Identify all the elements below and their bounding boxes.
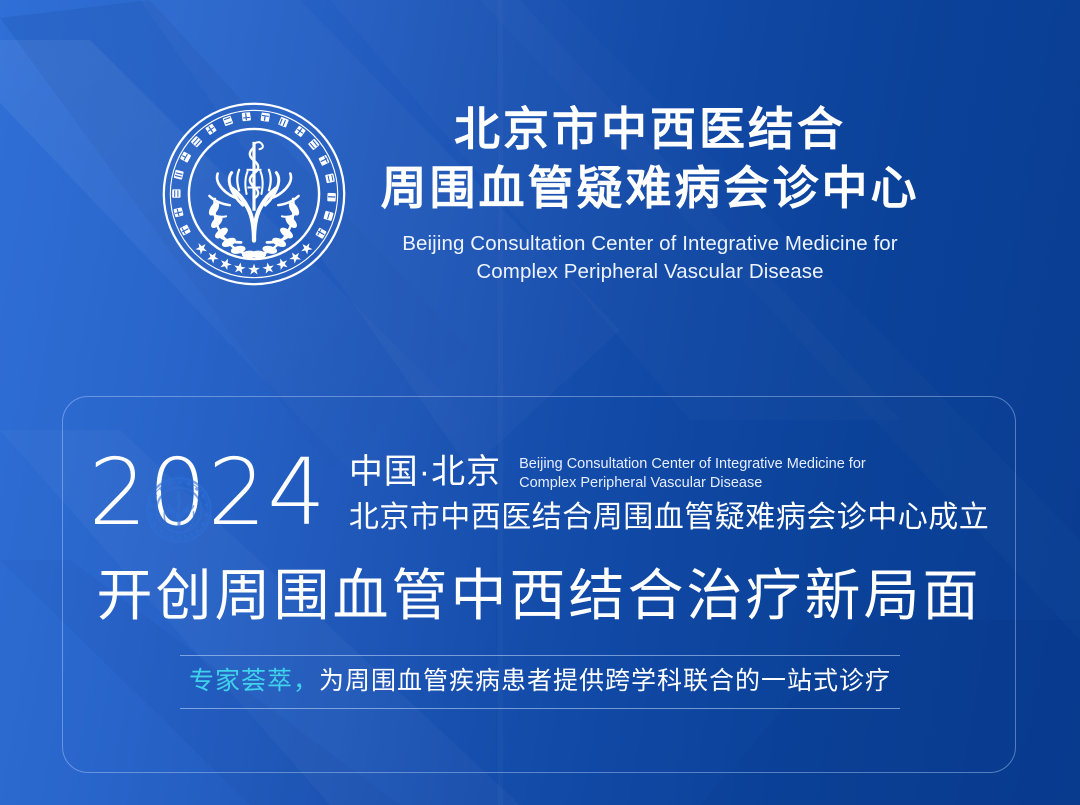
establishment-line: 北京市中西医结合周围血管疑难病会诊中心成立 (349, 503, 990, 533)
header-text-block: 北京市中西医结合 周围血管疑难病会诊中心 Beijing Consultatio… (381, 100, 920, 285)
year-text: 2024 (89, 439, 327, 546)
year-number: 2024 (89, 447, 327, 539)
main-headline: 开创周围血管中西结合治疗新局面 (62, 568, 1016, 624)
org-title-line-2: 周围血管疑难病会诊中心 (381, 159, 920, 218)
org-subtitle-line-1: Beijing Consultation Center of Integrati… (402, 230, 898, 258)
subtitle-line: 专家荟萃，为周围血管疾病患者提供跨学科联合的一站式诊疗 (180, 656, 900, 708)
side-english-line-1: Beijing Consultation Center of Integrati… (519, 453, 866, 474)
location-label: 中国·北京 (349, 453, 501, 489)
poster-header: 北京市中西医结合 周围血管疑难病会诊中心 Beijing Consultatio… (0, 0, 1080, 380)
subtitle-accent-text: 专家荟萃， (189, 667, 319, 695)
subtitle-block: 专家荟萃，为周围血管疾病患者提供跨学科联合的一站式诊疗 (180, 655, 900, 709)
center-emblem (161, 101, 347, 287)
poster-canvas: 北京市中西医结合 周围血管疑难病会诊中心 Beijing Consultatio… (0, 0, 1080, 805)
year-side-top-row: 中国·北京 Beijing Consultation Center of Int… (349, 453, 990, 492)
org-subtitle-line-2: Complex Peripheral Vascular Disease (476, 258, 823, 286)
side-english-line-2: Complex Peripheral Vascular Disease (519, 474, 866, 493)
year-side-text: 中国·北京 Beijing Consultation Center of Int… (349, 453, 990, 533)
subtitle-divider-bottom (180, 708, 900, 709)
side-english-block: Beijing Consultation Center of Integrati… (519, 453, 866, 492)
org-title-line-1: 北京市中西医结合 (454, 100, 846, 159)
emblem-icon (161, 101, 347, 287)
year-row: 2024 (62, 440, 1016, 546)
subtitle-main-text: 为周围血管疾病患者提供跨学科联合的一站式诊疗 (319, 667, 891, 695)
